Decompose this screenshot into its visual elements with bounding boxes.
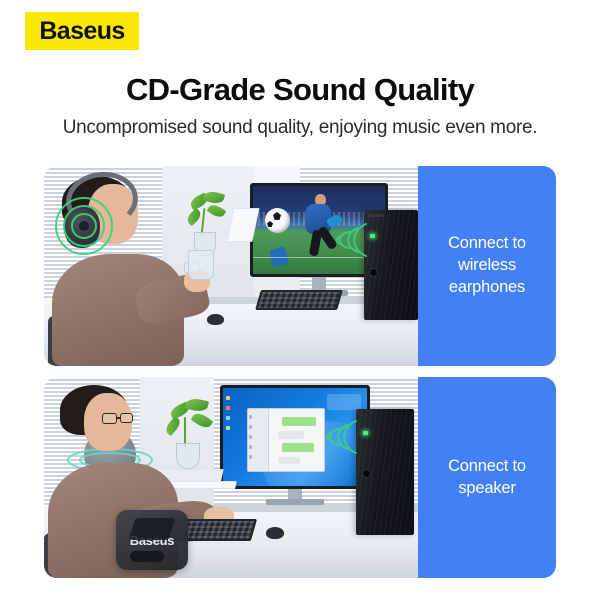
brand-name: Baseus	[39, 19, 124, 44]
callout-panel-earphones: Connect to wireless earphones	[418, 166, 556, 366]
page-subheadline: Uncompromised sound quality, enjoying mu…	[0, 117, 600, 139]
chat-contact-row	[249, 435, 253, 439]
pc-tower-2	[356, 409, 414, 535]
monitor-screen-windows	[223, 388, 367, 486]
chat-sidebar	[248, 409, 269, 471]
chat-bubble-sent	[282, 443, 314, 452]
chat-app-window	[247, 408, 325, 472]
keyboard-keys	[258, 292, 341, 308]
desktop-monitor-2	[220, 385, 370, 489]
glasses-bridge	[117, 417, 121, 419]
tower-top-slot	[368, 214, 384, 217]
glasses-lens-left	[102, 413, 117, 424]
chat-contact-row	[249, 415, 253, 419]
tower-power-led	[370, 234, 375, 238]
desktop-icon-4	[226, 426, 230, 430]
scene-photo-earphones	[44, 166, 418, 366]
callout-panel-speaker: Connect to speaker	[418, 377, 556, 578]
tower-vent-texture	[364, 210, 418, 320]
chat-bubble-received	[278, 431, 304, 439]
desktop-icon-1	[226, 396, 230, 400]
callout-label-speaker: Connect to speaker	[418, 456, 556, 500]
page-headline: CD-Grade Sound Quality	[0, 72, 600, 108]
chip-adapter-body	[128, 518, 175, 540]
mouse-2	[266, 527, 284, 539]
glasses-lens-right	[120, 413, 133, 423]
desktop-icon-3	[226, 416, 230, 420]
brand-logo-badge: Baseus	[25, 12, 139, 50]
chat-contact-row	[249, 425, 253, 429]
monitor-base-2	[266, 499, 324, 505]
product-chip-baseus: Baseus	[116, 510, 188, 570]
water-glass	[188, 250, 214, 280]
callout-label-earphones: Connect to wireless earphones	[418, 233, 556, 298]
glass-vase-2	[176, 443, 200, 469]
scene-photo-speaker: Baseus	[44, 377, 418, 578]
chip-dongle	[130, 551, 164, 562]
mouse	[207, 314, 224, 325]
tower-power-led-2	[363, 431, 368, 435]
chat-contact-row	[249, 455, 253, 459]
feature-card-wireless-earphones: Connect to wireless earphones	[44, 166, 556, 366]
desktop-widget	[327, 394, 361, 410]
tower-audio-port	[369, 268, 378, 277]
monitor-stand	[312, 277, 326, 291]
chat-bubble-sent	[282, 417, 316, 426]
headphone-earcup	[64, 206, 100, 248]
feature-card-speaker: Baseus Connect to speaker	[44, 377, 556, 578]
pc-tower	[364, 210, 418, 320]
chat-bubble-received	[278, 457, 300, 464]
product-feature-page: Baseus CD-Grade Sound Quality Uncompromi…	[0, 0, 600, 600]
keyboard	[255, 290, 343, 310]
desktop-icon-2	[226, 406, 230, 410]
tower-audio-port-2	[362, 469, 371, 478]
soccer-ball	[265, 208, 290, 233]
chat-contact-row	[249, 445, 253, 449]
